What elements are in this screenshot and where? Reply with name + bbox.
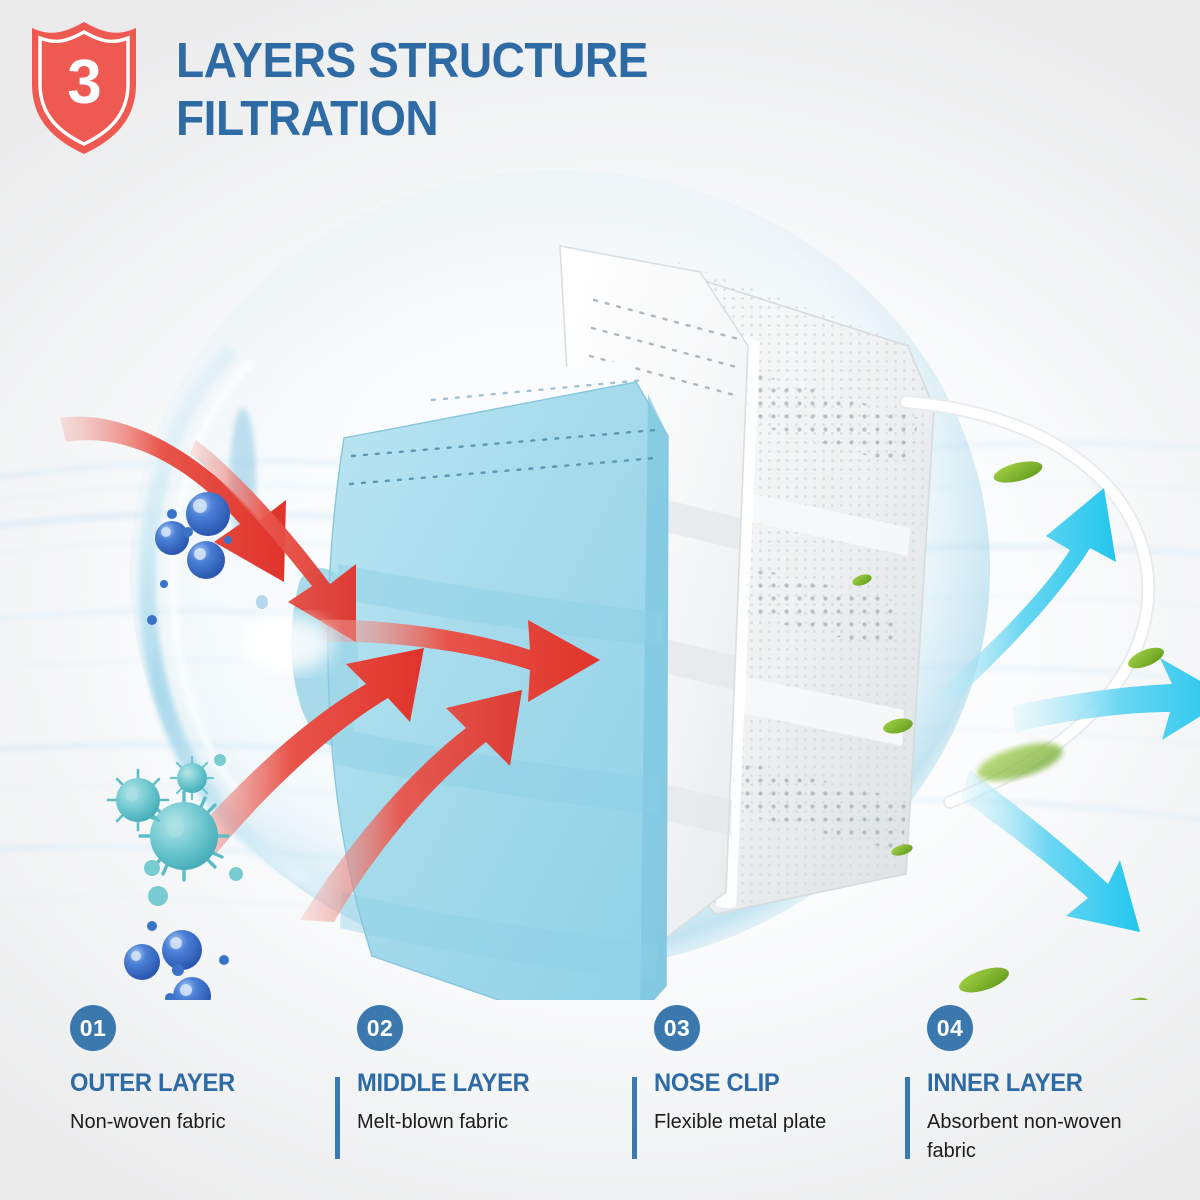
- mask-illustration-svg: [0, 150, 1200, 1000]
- title-line-1: LAYERS STRUCTURE: [176, 32, 1060, 90]
- shield-badge: 3: [28, 18, 140, 158]
- mask-outer-layer: [291, 360, 668, 1000]
- legend-title: INNER LAYER: [927, 1069, 1182, 1098]
- legend-number-badge: 04: [927, 1005, 973, 1051]
- legend: 01 OUTER LAYER Non-woven fabric 02 MIDDL…: [0, 1005, 1200, 1200]
- bubble-glare: [240, 616, 332, 672]
- legend-description: Flexible metal plate: [654, 1108, 902, 1137]
- legend-description: Melt-blown fabric: [357, 1108, 605, 1137]
- infographic-page: 3 LAYERS STRUCTURE FILTRATION: [0, 0, 1200, 1200]
- legend-item-outer-layer[interactable]: 01 OUTER LAYER Non-woven fabric: [60, 1005, 350, 1190]
- legend-item-nose-clip[interactable]: 03 NOSE CLIP Flexible metal plate: [632, 1005, 922, 1190]
- legend-title: MIDDLE LAYER: [357, 1069, 612, 1098]
- legend-number-badge: 03: [654, 1005, 700, 1051]
- legend-description: Absorbent non-woven fabric: [927, 1108, 1175, 1166]
- legend-description: Non-woven fabric: [70, 1108, 318, 1137]
- legend-number-badge: 02: [357, 1005, 403, 1051]
- legend-item-middle-layer[interactable]: 02 MIDDLE LAYER Melt-blown fabric: [335, 1005, 625, 1190]
- legend-divider: [632, 1077, 637, 1159]
- mask-illustration: [0, 150, 1200, 1000]
- shield-number: 3: [28, 18, 140, 158]
- legend-item-inner-layer[interactable]: 04 INNER LAYER Absorbent non-woven fabri…: [905, 1005, 1195, 1190]
- legend-divider: [905, 1077, 910, 1159]
- header: 3 LAYERS STRUCTURE FILTRATION: [0, 0, 1200, 175]
- legend-number-badge: 01: [70, 1005, 116, 1051]
- page-title: LAYERS STRUCTURE FILTRATION: [176, 32, 1116, 148]
- legend-divider: [335, 1077, 340, 1159]
- legend-title: OUTER LAYER: [70, 1069, 336, 1098]
- legend-title: NOSE CLIP: [654, 1069, 909, 1098]
- title-line-2: FILTRATION: [176, 90, 1060, 148]
